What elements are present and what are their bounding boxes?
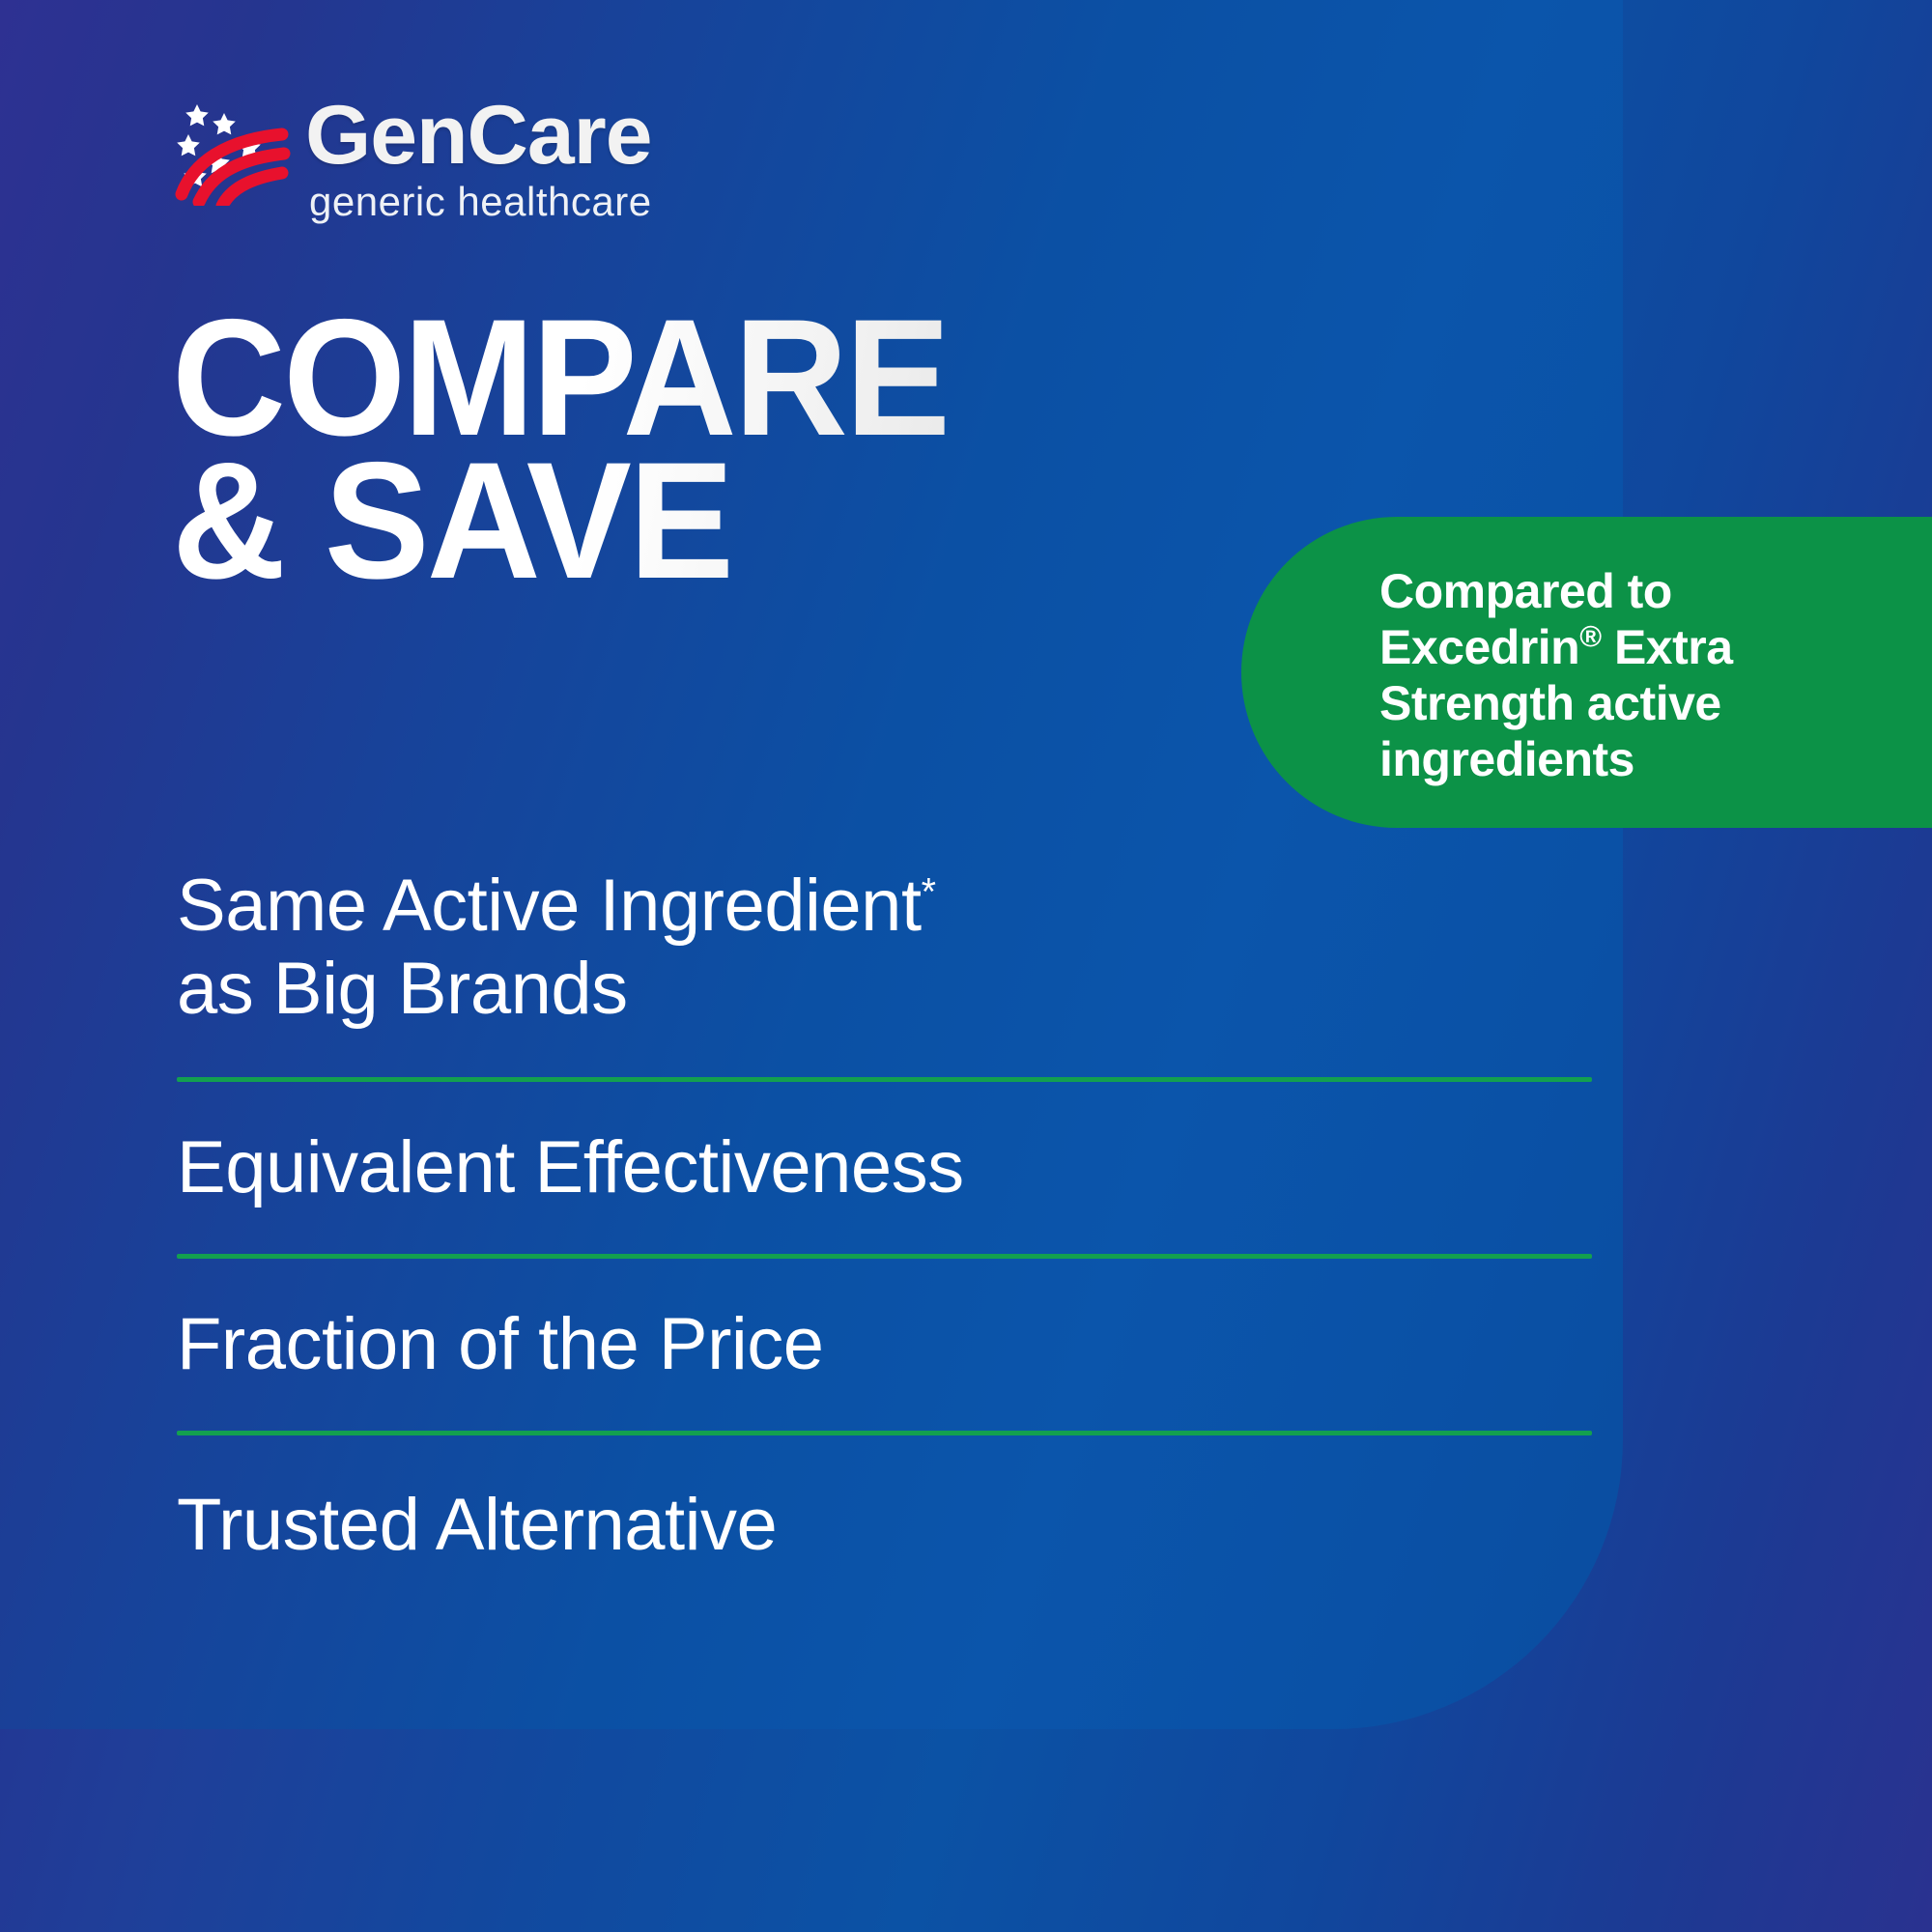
page-title: COMPARE & SAVE	[172, 307, 1200, 593]
comparison-badge-text: Compared to Excedrin® Extra Strength act…	[1379, 563, 1920, 787]
logo-tagline: generic healthcare	[309, 179, 652, 225]
benefit-label-3: Trusted Alternative	[177, 1484, 1597, 1567]
badge-line-4: ingredients	[1379, 732, 1634, 786]
list-item: Fraction of the Price	[177, 1259, 1597, 1431]
badge-line-2-rest: Extra	[1602, 620, 1733, 674]
list-item: Equivalent Effectiveness	[177, 1082, 1597, 1254]
benefit-label-1: Equivalent Effectiveness	[177, 1126, 1597, 1209]
logo-wordmark: GenCare	[305, 88, 652, 184]
benefit-text-0-line2: as Big Brands	[177, 948, 628, 1030]
benefit-text-0: Same Active Ingredient	[177, 865, 922, 947]
list-item: Trusted Alternative	[177, 1435, 1597, 1567]
stars-and-stripes-swoosh-icon	[174, 101, 295, 206]
poster-canvas: GenCare generic healthcare COMPARE & SAV…	[0, 0, 1932, 1932]
headline-line-2: & SAVE	[172, 450, 1200, 593]
badge-line-1: Compared to	[1379, 564, 1672, 618]
registered-trademark-icon: ®	[1579, 619, 1601, 653]
badge-line-3: Strength active	[1379, 676, 1721, 730]
benefit-label-2: Fraction of the Price	[177, 1303, 1597, 1386]
badge-line-2-brand: Excedrin	[1379, 620, 1579, 674]
asterisk-icon: *	[922, 871, 936, 914]
benefit-label-0: Same Active Ingredient*as Big Brands	[177, 865, 1597, 1031]
comparison-badge: Compared to Excedrin® Extra Strength act…	[1241, 517, 1932, 828]
list-item: Same Active Ingredient*as Big Brands	[177, 865, 1597, 1077]
benefits-list: Same Active Ingredient*as Big Brands Equ…	[177, 865, 1597, 1566]
brand-logo[interactable]: GenCare generic healthcare	[174, 101, 792, 246]
